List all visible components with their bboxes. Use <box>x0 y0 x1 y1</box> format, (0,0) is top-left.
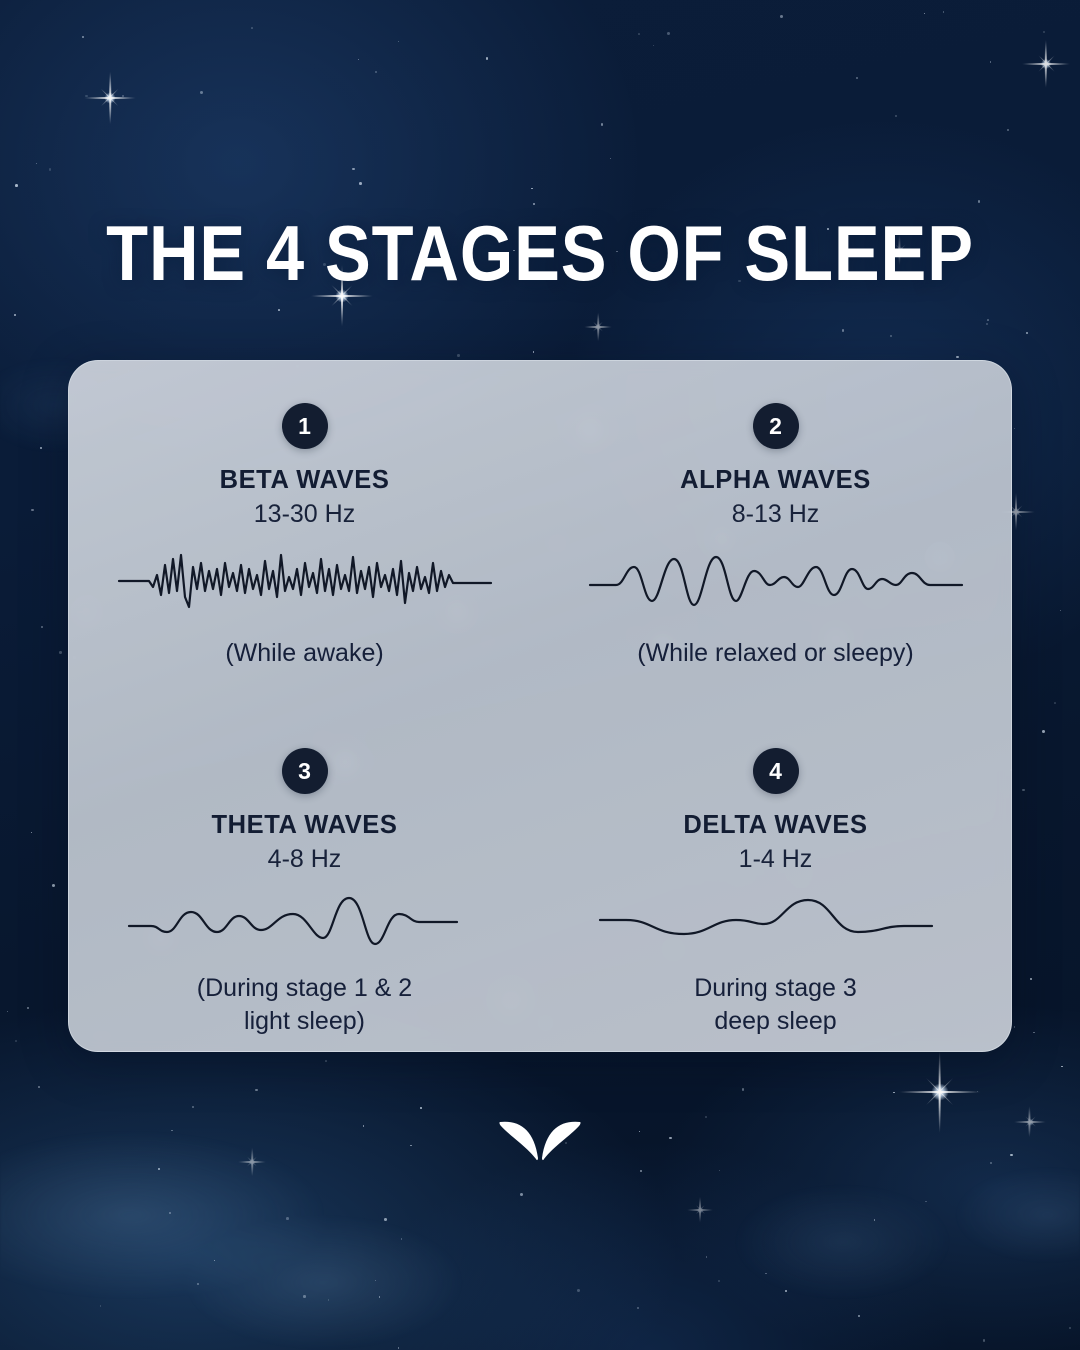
star-dot <box>457 354 460 357</box>
star-dot <box>533 351 534 352</box>
star-dot <box>1033 1032 1034 1033</box>
star-dot <box>719 1170 720 1171</box>
star-dot <box>785 1290 787 1292</box>
stage-frequency: 13-30 Hz <box>254 500 355 529</box>
star-dot <box>379 1296 380 1297</box>
stages-grid: 1 BETA WAVES 13-30 Hz (While awake) 2 AL… <box>69 361 1011 1051</box>
star-dot <box>943 11 944 12</box>
star-dot <box>842 329 844 331</box>
star-dot <box>59 651 62 654</box>
page-title: THE 4 STAGES OF SLEEP <box>65 209 1015 297</box>
stage-title: BETA WAVES <box>220 466 390 495</box>
star-dot <box>1022 789 1024 791</box>
star-dot <box>325 1060 327 1062</box>
theta-waveform-icon <box>125 890 485 952</box>
star-dot <box>637 1307 639 1309</box>
beta-waveform-icon <box>115 545 495 617</box>
stages-card: 1 BETA WAVES 13-30 Hz (While awake) 2 AL… <box>68 360 1012 1052</box>
star-dot <box>874 1219 875 1220</box>
stage-cell-1: 1 BETA WAVES 13-30 Hz (While awake) <box>69 361 540 706</box>
star-dot <box>398 41 399 42</box>
star-dot <box>990 61 991 62</box>
star-dot <box>384 1218 387 1221</box>
star-dot <box>278 309 280 311</box>
star-dot <box>956 356 958 358</box>
stage-title: THETA WAVES <box>211 811 397 840</box>
stage-frequency: 4-8 Hz <box>268 845 342 874</box>
star-dot <box>1010 1154 1012 1156</box>
stage-cell-4: 4 DELTA WAVES 1-4 Hz During stage 3 deep… <box>540 706 1011 1051</box>
star-dot <box>375 71 377 73</box>
stage-frequency: 1-4 Hz <box>739 845 813 874</box>
star-dot <box>15 1040 17 1042</box>
star-dot <box>352 168 354 170</box>
stage-caption: (While awake) <box>225 637 383 670</box>
star-dot <box>171 1130 173 1132</box>
stage-cell-3: 3 THETA WAVES 4-8 Hz (During stage 1 & 2… <box>69 706 540 1051</box>
star-dot <box>667 32 670 35</box>
stage-caption: During stage 3 deep sleep <box>694 972 857 1038</box>
star-dot <box>925 1201 926 1202</box>
star-dot <box>286 1217 289 1220</box>
star-dot <box>669 1137 671 1139</box>
star-dot <box>1054 702 1056 704</box>
star-dot <box>638 33 640 35</box>
star-dot <box>197 1283 199 1285</box>
stage-title: DELTA WAVES <box>683 811 867 840</box>
star-dot <box>1042 730 1045 733</box>
stage-caption: (While relaxed or sleepy) <box>637 637 914 670</box>
star-dot <box>742 1088 744 1090</box>
star-dot <box>200 91 203 94</box>
star-dot <box>1069 1327 1071 1329</box>
star-dot <box>705 1116 706 1117</box>
stage-frequency: 8-13 Hz <box>732 500 820 529</box>
star-dot <box>52 884 55 887</box>
stage-number-badge: 1 <box>282 403 328 449</box>
stage-number-badge: 4 <box>753 748 799 794</box>
star-dot <box>303 1295 305 1297</box>
star-dot <box>895 115 896 116</box>
star-dot <box>7 1011 8 1012</box>
star-dot <box>1014 1026 1015 1027</box>
stage-caption: (During stage 1 & 2 light sleep) <box>197 972 412 1038</box>
star-dot <box>14 314 16 316</box>
star-dot <box>359 182 362 185</box>
star-dot <box>251 27 253 29</box>
star-dot <box>856 77 858 79</box>
mindvalley-wings-logo <box>498 1112 582 1170</box>
stage-number-badge: 3 <box>282 748 328 794</box>
stage-cell-2: 2 ALPHA WAVES 8-13 Hz (While relaxed or … <box>540 361 1011 706</box>
star-dot <box>706 1256 707 1257</box>
star-dot <box>41 626 43 628</box>
star-dot <box>718 1280 720 1282</box>
alpha-waveform-icon <box>586 545 966 617</box>
star-dot <box>780 15 783 18</box>
star-dot <box>1030 978 1032 980</box>
delta-waveform-icon <box>596 890 956 952</box>
star-dot <box>38 1086 40 1088</box>
star-dot <box>601 123 603 125</box>
stage-title: ALPHA WAVES <box>680 466 871 495</box>
stage-number-badge: 2 <box>753 403 799 449</box>
star-dot <box>987 319 989 321</box>
